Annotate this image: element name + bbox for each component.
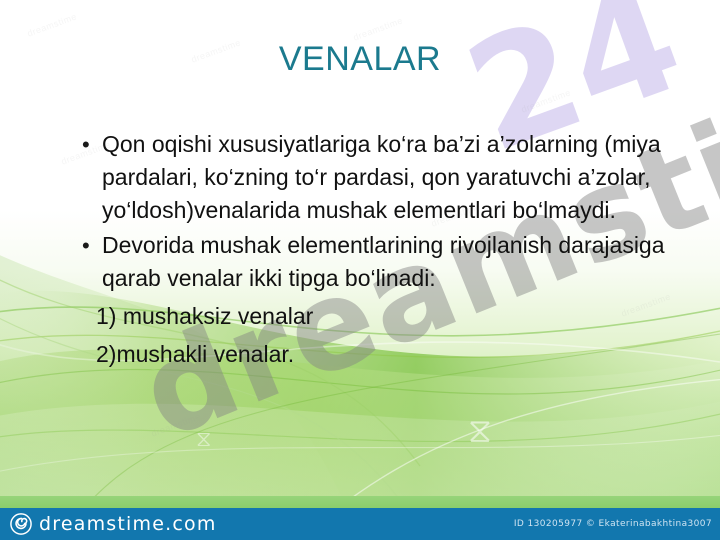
slide-content: VENALAR • Qon oqishi xususiyatlariga ko‘… bbox=[0, 0, 720, 540]
bullet-marker-icon: • bbox=[78, 229, 102, 262]
bullet-marker-icon: • bbox=[78, 128, 102, 161]
numbered-line: 1) mushaksiz venalar bbox=[78, 297, 703, 335]
footer-green-strip bbox=[0, 496, 720, 508]
stock-watermark-footer: dreamstime.com ID 130205977 © Ekaterinab… bbox=[0, 508, 720, 540]
list-item: • Devorida mushak elementlarining rivojl… bbox=[78, 229, 703, 295]
numbered-line: 2)mushakli venalar. bbox=[78, 335, 703, 373]
dreamstime-brand: dreamstime.com bbox=[10, 513, 217, 535]
dreamstime-spiral-logo-icon bbox=[10, 513, 32, 535]
slide-canvas: dreamstime 24 dreamstime dreamstime drea… bbox=[0, 0, 720, 540]
list-item-text: Qon oqishi xususiyatlariga ko‘ra ba’zi a… bbox=[102, 128, 703, 227]
list-item: • Qon oqishi xususiyatlariga ko‘ra ba’zi… bbox=[78, 128, 703, 227]
image-id-credit: ID 130205977 © Ekaterinabakhtina3007 bbox=[514, 519, 712, 529]
page-title: VENALAR bbox=[0, 40, 720, 79]
dreamstime-brand-text: dreamstime.com bbox=[39, 513, 217, 535]
list-item-text: Devorida mushak elementlarining rivojlan… bbox=[102, 229, 703, 295]
body-text-block: • Qon oqishi xususiyatlariga ko‘ra ba’zi… bbox=[78, 128, 703, 373]
